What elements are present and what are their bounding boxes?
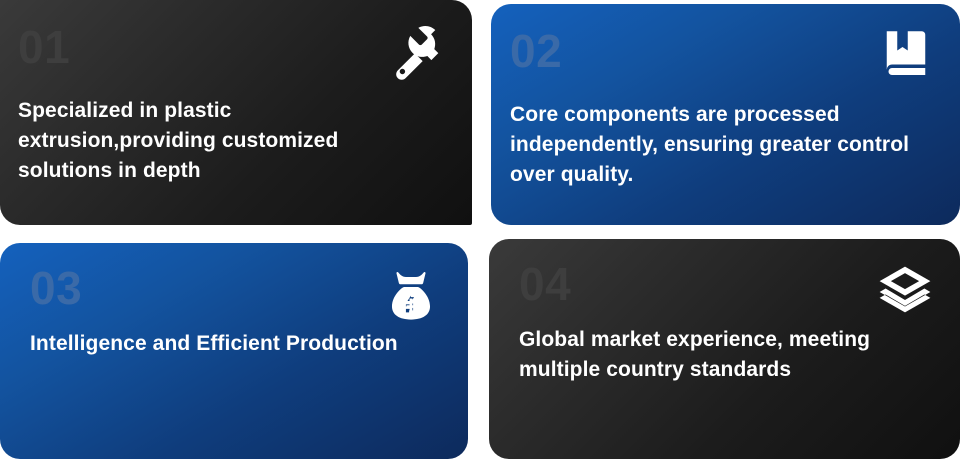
card-number-01: 01	[18, 24, 70, 70]
wrench-icon	[386, 22, 446, 82]
feature-card-03[interactable]: 03 Intelligence and Efficient Production	[0, 243, 468, 459]
layers-stack-icon	[876, 263, 934, 321]
card-number-04: 04	[519, 261, 571, 307]
card-title-02: Core components are processed independen…	[510, 100, 937, 190]
book-bookmark-icon	[878, 26, 934, 82]
feature-card-grid: 01 Specialized in plastic extrusion,prov…	[0, 0, 960, 459]
card-number-02: 02	[510, 28, 562, 74]
card-content: 01 Specialized in plastic extrusion,prov…	[0, 0, 472, 225]
feature-card-01[interactable]: 01 Specialized in plastic extrusion,prov…	[0, 0, 472, 225]
money-bag-yen-icon	[382, 267, 440, 325]
card-content: 02 Core components are processed indepen…	[491, 4, 960, 225]
card-title-01: Specialized in plastic extrusion,providi…	[18, 96, 424, 186]
feature-card-02[interactable]: 02 Core components are processed indepen…	[491, 4, 960, 225]
card-number-03: 03	[30, 265, 82, 311]
card-content: 04 Global market experience, meeting mul…	[489, 239, 960, 459]
card-content: 03 Intelligence and Efficient Production	[0, 243, 468, 459]
feature-card-04[interactable]: 04 Global market experience, meeting mul…	[489, 239, 960, 459]
card-title-04: Global market experience, meeting multip…	[519, 325, 924, 385]
card-title-03: Intelligence and Efficient Production	[30, 329, 432, 359]
